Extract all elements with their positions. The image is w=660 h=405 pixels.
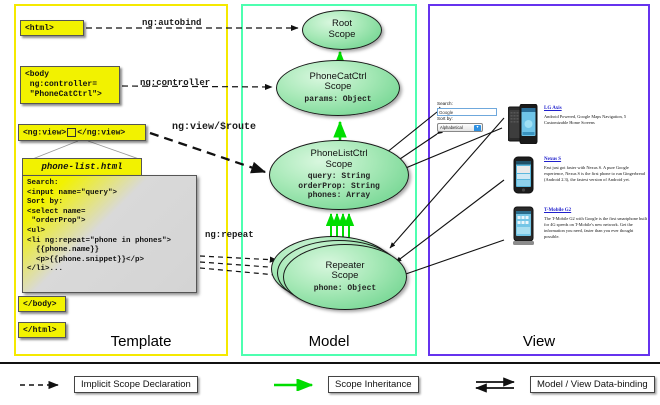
label-ng-autobind: ng:autobind <box>142 18 201 28</box>
phone-info: LG Axis Android Powered, Google Maps Nav… <box>544 104 648 126</box>
tag-ngview: <ng:view></ng:view> <box>18 124 146 141</box>
angularjs-architecture-diagram: Template Model View <box>0 0 660 405</box>
ngview-placeholder-icon <box>67 128 76 137</box>
double-arrow-icon <box>474 377 522 393</box>
scope-repeater-props: phone: Object <box>314 284 376 294</box>
scope-phonelistctrl-props: query: String orderProp: String phones: … <box>298 172 380 201</box>
list-item[interactable]: T-Mobile G2 The T-Mobile G2 with Google … <box>508 206 648 251</box>
label-ng-controller: ng:controller <box>140 78 210 88</box>
legend-label: Scope Inheritance <box>328 376 419 393</box>
tag-html-close: </html> <box>18 322 66 338</box>
search-input[interactable]: Google <box>437 108 497 116</box>
scope-phonelistctrl-title: PhoneListCtrl Scope <box>310 149 367 170</box>
legend-label: Implicit Scope Declaration <box>74 376 198 393</box>
phone-thumbnail-tmobile-g2 <box>508 206 538 251</box>
scope-repeater-title: Repeater Scope <box>325 261 364 282</box>
legend-label: Model / View Data-binding <box>530 376 655 393</box>
scope-phonelistctrl: PhoneListCtrl Scope query: String orderP… <box>269 140 409 210</box>
tag-body-open: <body ng:controller= "PhoneCatCtrl"> <box>20 66 120 104</box>
chevron-updown-icon: ▾ <box>474 125 481 132</box>
column-label-view: View <box>430 333 648 350</box>
tag-ngview-prefix: <ng:view> <box>23 129 66 138</box>
legend: Implicit Scope Declaration Scope Inherit… <box>0 362 660 405</box>
tag-html-open: <html> <box>20 20 84 36</box>
phone-list: LG Axis Android Powered, Google Maps Nav… <box>508 104 648 257</box>
legend-item-model-view-data-binding: Model / View Data-binding <box>474 376 655 393</box>
scope-repeater: Repeater Scope phone: Object <box>283 244 407 310</box>
callout-code: Search: <input name="query"> Sort by: <s… <box>22 175 197 293</box>
scope-phonecatctrl: PhoneCatCtrl Scope params: Object <box>276 60 400 116</box>
solid-arrow-icon <box>272 379 320 391</box>
scope-phonecatctrl-title: PhoneCatCtrl Scope <box>309 72 366 93</box>
phone-name-link[interactable]: Nexus S <box>544 157 648 163</box>
dashed-arrow-icon <box>18 379 66 391</box>
phone-list-callout: phone-list.html Search: <input name="que… <box>22 158 197 293</box>
label-ng-view-route: ng:view/$route <box>172 122 256 133</box>
sort-select-value: Alphabetical <box>440 125 463 130</box>
tag-ngview-suffix: </ng:view> <box>77 129 125 138</box>
scope-root-title: Root Scope <box>329 19 356 40</box>
tag-body-close: </body> <box>18 296 66 312</box>
phone-snippet: Fast just got faster with Nexus S. A pur… <box>544 165 648 183</box>
legend-item-scope-inheritance: Scope Inheritance <box>272 376 419 393</box>
label-ng-repeat: ng:repeat <box>205 230 254 240</box>
list-item[interactable]: Nexus S Fast just got faster with Nexus … <box>508 155 648 200</box>
scope-root: Root Scope <box>302 10 382 50</box>
phone-info: Nexus S Fast just got faster with Nexus … <box>544 155 648 183</box>
sort-label: Sort by: <box>437 116 499 123</box>
callout-title: phone-list.html <box>22 158 142 176</box>
scope-phonecatctrl-props: params: Object <box>304 95 371 105</box>
sort-select[interactable]: Alphabetical ▾ <box>437 123 483 132</box>
phone-name-link[interactable]: T-Mobile G2 <box>544 208 648 214</box>
list-item[interactable]: LG Axis Android Powered, Google Maps Nav… <box>508 104 648 149</box>
phone-info: T-Mobile G2 The T-Mobile G2 with Google … <box>544 206 648 240</box>
phone-snippet: Android Powered, Google Maps Navigation,… <box>544 114 648 126</box>
phone-snippet: The T-Mobile G2 with Google is the first… <box>544 216 648 240</box>
phone-name-link[interactable]: LG Axis <box>544 106 648 112</box>
phone-thumbnail-nexus-s <box>508 155 538 200</box>
legend-item-implicit-scope-declaration: Implicit Scope Declaration <box>18 376 198 393</box>
phone-thumbnail-lg-axis <box>508 104 538 149</box>
search-label: Search: <box>437 101 499 108</box>
diagram-canvas: Template Model View <box>0 0 660 362</box>
column-label-model: Model <box>243 333 415 350</box>
view-search-form: Search: Google Sort by: Alphabetical ▾ <box>437 101 499 132</box>
